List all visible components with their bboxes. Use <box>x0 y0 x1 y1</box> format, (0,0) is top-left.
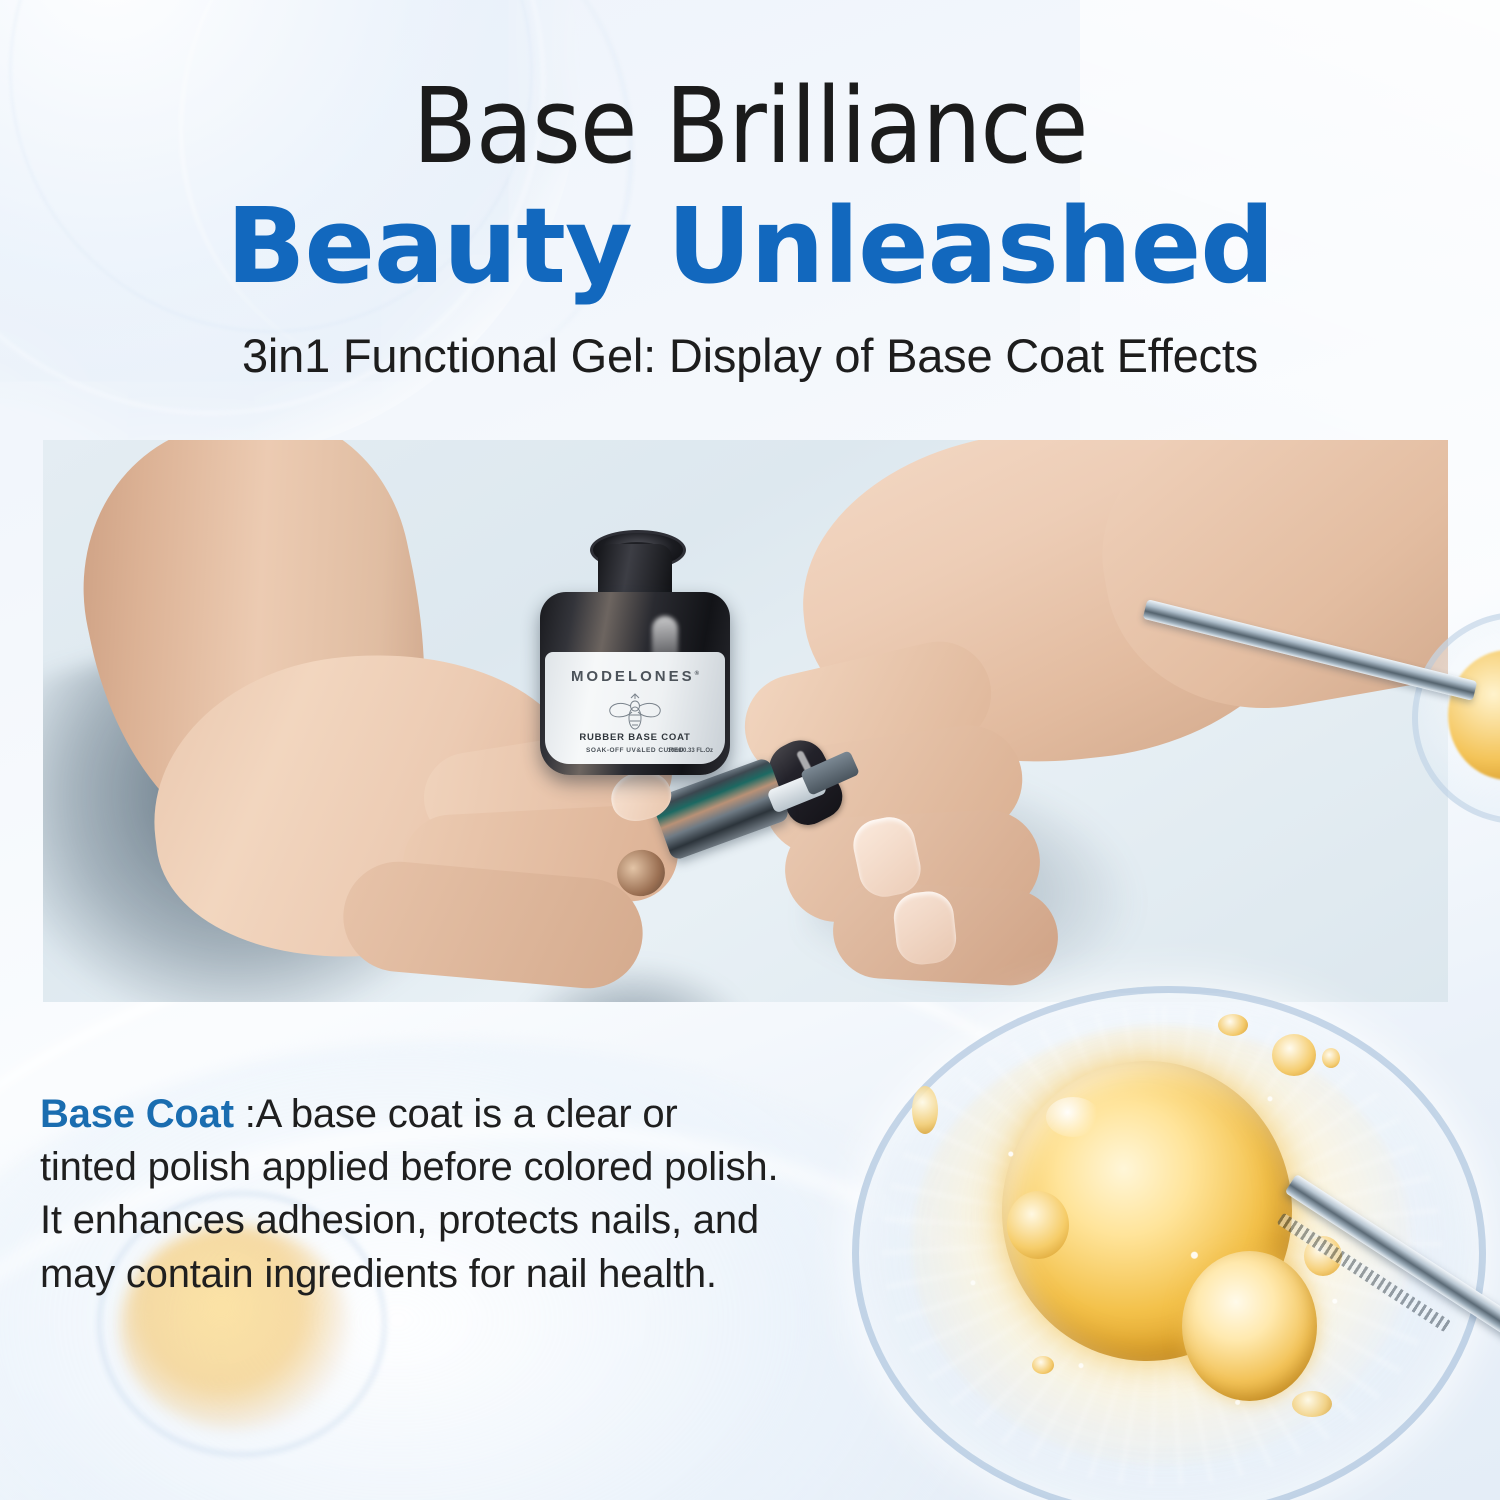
petri-dish-sparkles <box>892 1016 1432 1476</box>
bottle-label: MODELONES® RUBBER BASE COAT SOAK-OFF UV&… <box>545 652 725 764</box>
brand-name: MODELONES® <box>545 668 725 685</box>
headline-subtitle: 3in1 Functional Gel: Display of Base Coa… <box>0 328 1500 384</box>
product-name: RUBBER BASE COAT <box>545 732 725 743</box>
product-volume: 10ml/0.33 FL.Oz <box>668 748 713 754</box>
brand-text: MODELONES <box>571 668 695 685</box>
marketing-page: Base Brilliance Beauty Unleashed 3in1 Fu… <box>0 0 1500 1500</box>
bare-nail-3 <box>891 889 958 967</box>
hero-photo-panel: MODELONES® RUBBER BASE COAT SOAK-OFF UV&… <box>43 440 1448 1002</box>
base-coat-label: Base Coat <box>40 1092 234 1136</box>
petri-dish-oil-composition <box>852 986 1500 1500</box>
base-coat-description: Base Coat :A base coat is a clear or tin… <box>40 1088 785 1301</box>
trademark-symbol: ® <box>695 671 699 677</box>
headline-line-2: Beauty Unleashed <box>0 190 1500 302</box>
headline-line-1: Base Brilliance <box>0 74 1500 178</box>
bee-logo-icon <box>606 692 664 732</box>
headline-block: Base Brilliance Beauty Unleashed 3in1 Fu… <box>0 74 1500 385</box>
product-bottle: MODELONES® RUBBER BASE COAT SOAK-OFF UV&… <box>540 530 730 775</box>
